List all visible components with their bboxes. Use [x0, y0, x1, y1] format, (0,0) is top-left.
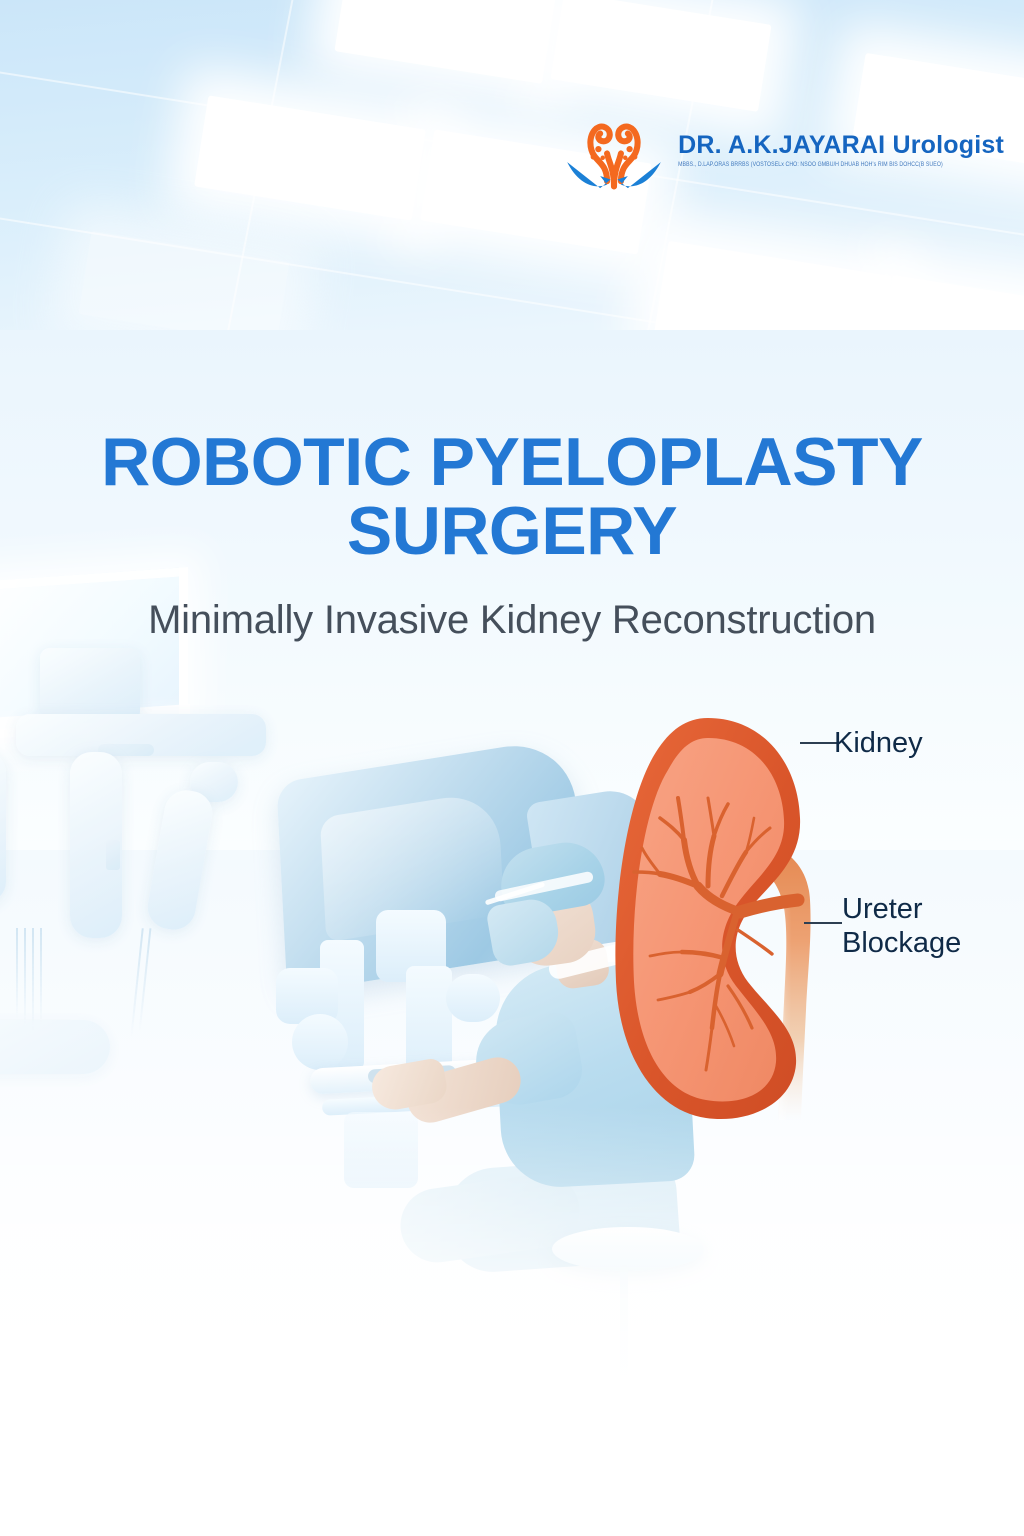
ureter-leader-line — [804, 922, 842, 924]
logo-title: DR. A.K.JAYARAI Urologist — [678, 133, 1004, 158]
label-ureter-blockage: Ureter Blockage — [842, 892, 961, 960]
poster-canvas: DR. A.K.JAYARAI Urologist MBBS., D.LAP.O… — [0, 0, 1024, 1536]
page-title: ROBOTIC PYELOPLASTY SURGERY — [0, 428, 1024, 567]
logo-subtitle: MBBS., D.LAP.ORAS BRRBS (VOSTOSELx CHO: … — [678, 162, 1004, 169]
kidney-illustration — [612, 700, 1024, 1120]
headline-line-1: ROBOTIC PYELOPLASTY — [101, 424, 923, 500]
ceiling-light-panel — [194, 95, 426, 220]
dual-kidney-logo-icon — [562, 108, 666, 192]
ceiling-light-panel — [550, 0, 771, 112]
kidney-leader-line — [800, 742, 838, 744]
floor-glow — [0, 1106, 1024, 1536]
label-ureter-line-2: Blockage — [842, 927, 961, 959]
clinic-logo[interactable]: DR. A.K.JAYARAI Urologist MBBS., D.LAP.O… — [562, 108, 1004, 192]
label-ureter-line-1: Ureter — [842, 893, 923, 925]
ceiling-light-panel — [334, 0, 555, 84]
kidney-diagram: Kidney Ureter Blockage — [612, 700, 1024, 1120]
headline-line-2: SURGERY — [0, 497, 1024, 566]
label-kidney: Kidney — [834, 726, 923, 760]
page-subtitle: Minimally Invasive Kidney Reconstruction — [0, 598, 1024, 643]
ceiling-light-panel — [79, 231, 290, 345]
